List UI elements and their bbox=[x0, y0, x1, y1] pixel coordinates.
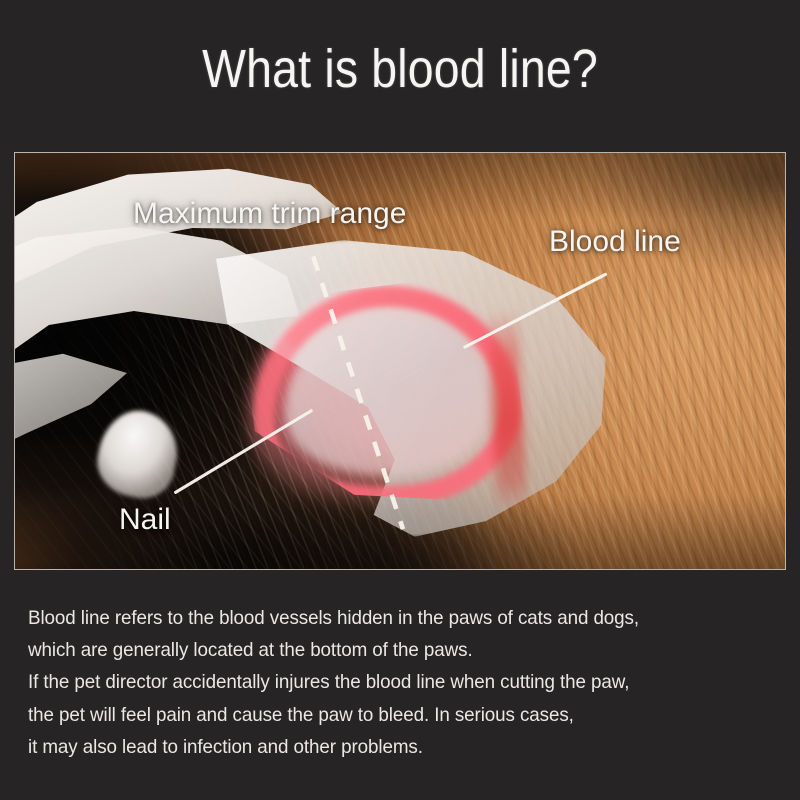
figure-photo-frame: Maximum trim range Blood line Nail bbox=[14, 152, 786, 570]
description-line: the pet will feel pain and cause the paw… bbox=[28, 699, 746, 731]
description-line: If the pet director accidentally injures… bbox=[28, 666, 746, 698]
description-line: it may also lead to infection and other … bbox=[28, 731, 746, 763]
label-nail: Nail bbox=[119, 503, 171, 537]
infographic-page: What is blood line? bbox=[0, 0, 800, 800]
figure-photo: Maximum trim range Blood line Nail bbox=[15, 153, 785, 569]
label-maximum-trim-range: Maximum trim range bbox=[133, 197, 406, 231]
page-title: What is blood line? bbox=[56, 36, 744, 102]
label-blood-line: Blood line bbox=[549, 225, 681, 259]
description-line: Blood line refers to the blood vessels h… bbox=[28, 602, 746, 634]
description-paragraph: Blood line refers to the blood vessels h… bbox=[28, 602, 746, 763]
description-line: which are generally located at the botto… bbox=[28, 634, 746, 666]
